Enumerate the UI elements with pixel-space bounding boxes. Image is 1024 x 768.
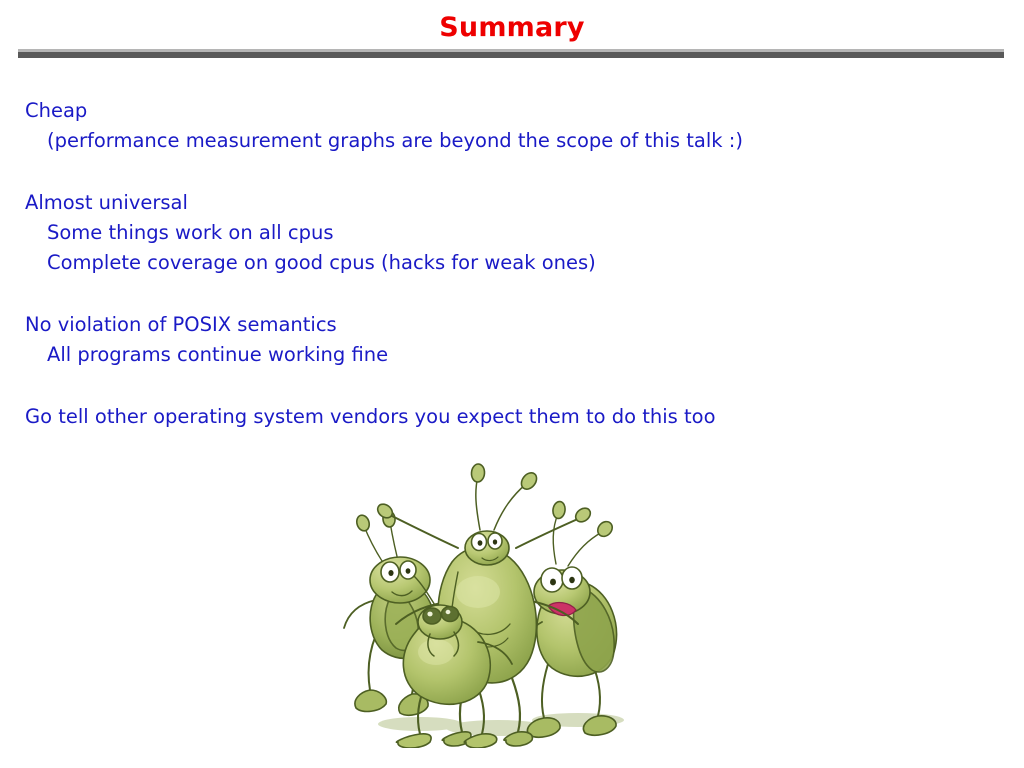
bullet-block: No violation of POSIX semantics All prog… (0, 310, 1024, 370)
bullet-line: Cheap (0, 96, 1024, 126)
title-divider (18, 49, 1004, 58)
divider-shadow (18, 52, 1004, 58)
bullet-block: Almost universal Some things work on all… (0, 188, 1024, 278)
bullet-block: Go tell other operating system vendors y… (0, 402, 1024, 432)
bullet-line: Complete coverage on good cpus (hacks fo… (0, 248, 1024, 278)
bullet-line: (performance measurement graphs are beyo… (0, 126, 1024, 156)
slide-body: Cheap (performance measurement graphs ar… (0, 96, 1024, 432)
bullet-line: All programs continue working fine (0, 340, 1024, 370)
bullet-line: Almost universal (0, 188, 1024, 218)
bullet-line: Some things work on all cpus (0, 218, 1024, 248)
bullet-line: No violation of POSIX semantics (0, 310, 1024, 340)
page-title: Summary (0, 11, 1024, 45)
bullet-line: Go tell other operating system vendors y… (0, 402, 1024, 432)
slide-canvas: Summary Cheap (performance measurement g… (0, 0, 1024, 768)
cartoon-bugs-image (330, 452, 646, 748)
bullet-block: Cheap (performance measurement graphs ar… (0, 96, 1024, 156)
